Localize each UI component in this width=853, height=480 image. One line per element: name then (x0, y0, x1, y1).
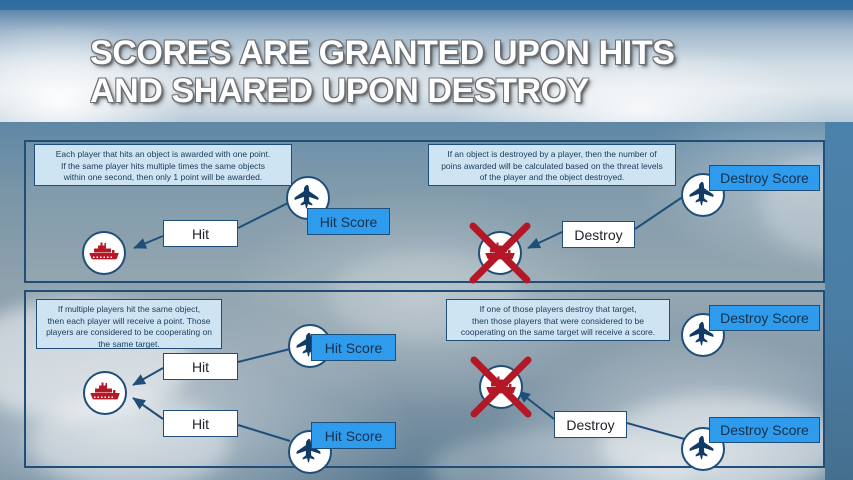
page-title: SCORES ARE GRANTED UPON HITS AND SHARED … (90, 34, 810, 110)
note-destroy-rules: If an object is destroyed by a player, t… (428, 144, 676, 186)
label-hit-score: Hit Score (311, 422, 396, 449)
ship-target-icon (82, 231, 126, 275)
label-hit-score: Hit Score (311, 334, 396, 361)
note-line: If an object is destroyed by a player, t… (435, 149, 669, 161)
label-hit-score: Hit Score (307, 208, 390, 235)
page-title-line-1: SCORES ARE GRANTED UPON HITS (90, 34, 810, 72)
label-destroy-score: Destroy Score (709, 305, 820, 331)
destroyed-ship-icon (478, 231, 522, 275)
note-multiple-hit-rules: If multiple players hit the same object,… (36, 299, 222, 349)
label-destroy-score: Destroy Score (709, 417, 820, 443)
destroyed-ship-icon (479, 365, 523, 409)
label-hit: Hit (163, 220, 238, 247)
right-color-band (825, 122, 853, 480)
label-hit: Hit (163, 353, 238, 380)
note-line: If multiple players hit the same object, (43, 304, 215, 316)
note-line: then each player will receive a point. T… (43, 316, 215, 328)
note-line: the same target. (43, 339, 215, 351)
note-line: If the same player hits multiple times t… (41, 161, 285, 173)
label-hit: Hit (163, 410, 238, 437)
label-destroy: Destroy (554, 411, 627, 438)
label-destroy-score: Destroy Score (709, 165, 820, 191)
note-line: Each player that hits an object is award… (41, 149, 285, 161)
note-line: within one second, then only 1 point wil… (41, 172, 285, 184)
title-banner: SCORES ARE GRANTED UPON HITS AND SHARED … (0, 10, 853, 122)
note-line: poins awarded will be calculated based o… (435, 161, 669, 173)
note-hit-rules: Each player that hits an object is award… (34, 144, 292, 186)
note-line: then those players that were considered … (453, 316, 663, 328)
note-line: cooperating on the same target will rece… (453, 327, 663, 339)
note-line: players are considered to be cooperating… (43, 327, 215, 339)
note-shared-destroy-rules: If one of those players destroy that tar… (446, 299, 670, 341)
ship-target-icon (83, 371, 127, 415)
page-title-line-2: AND SHARED UPON DESTROY (90, 72, 810, 110)
note-line: If one of those players destroy that tar… (453, 304, 663, 316)
note-line: of the player and the object destroyed. (435, 172, 669, 184)
label-destroy: Destroy (562, 221, 635, 248)
slide-canvas: SCORES ARE GRANTED UPON HITS AND SHARED … (0, 0, 853, 480)
